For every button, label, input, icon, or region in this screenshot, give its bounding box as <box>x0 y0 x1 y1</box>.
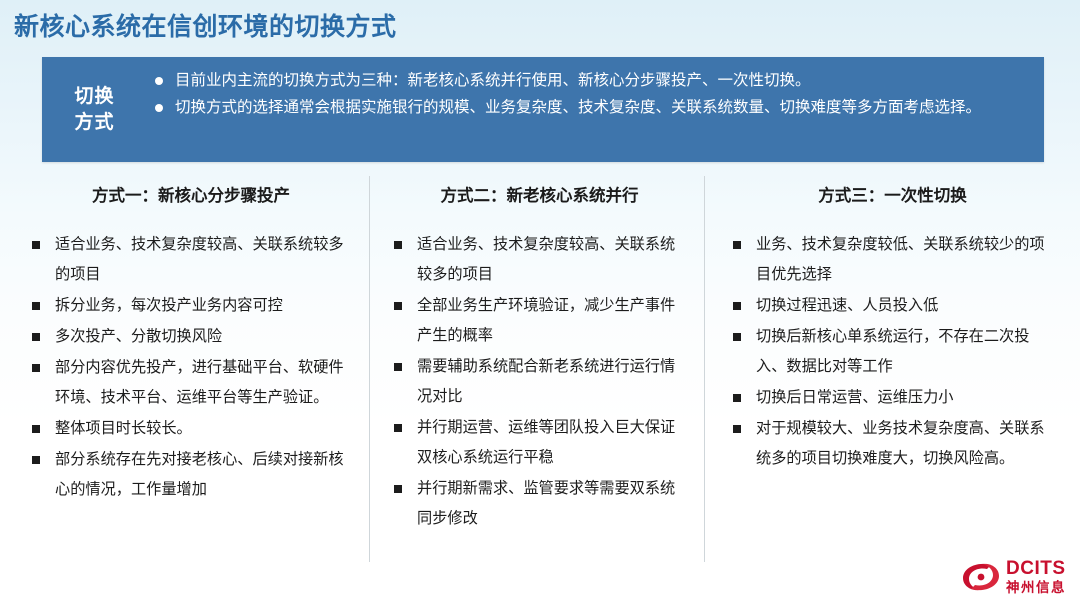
list-item-text: 切换后日常运营、运维压力小 <box>756 389 953 406</box>
bullet-square-icon <box>32 456 40 464</box>
list-item-text: 整体项目时长较长。 <box>55 420 192 437</box>
list-item-text: 切换后新核心单系统运行，不存在二次投入、数据比对等工作 <box>756 328 1029 375</box>
list-item-text: 业务、技术复杂度较低、关联系统较少的项目优先选择 <box>756 236 1045 283</box>
list-item-text: 适合业务、技术复杂度较高、关联系统较多的项目 <box>55 236 344 283</box>
list-item-text: 适合业务、技术复杂度较高、关联系统较多的项目 <box>417 236 675 283</box>
list-item-text: 并行期运营、运维等团队投入巨大保证双核心系统运行平稳 <box>417 419 675 466</box>
column-heading: 方式三：一次性切换 <box>729 176 1056 214</box>
logo-text-block: DCITS 神州信息 <box>1006 559 1066 595</box>
intro-label-line-2: 方式 <box>74 110 114 136</box>
intro-bullet-list: 目前业内主流的切换方式为三种：新老核心系统并行使用、新核心分步骤投产、一次性切换… <box>147 57 1044 162</box>
logo-name-en: DCITS <box>1006 559 1066 578</box>
logo-name-cn: 神州信息 <box>1006 581 1066 595</box>
list-item: 部分内容优先投产，进行基础平台、软硬件环境、技术平台、运维平台等生产验证。 <box>28 353 354 413</box>
list-item: 多次投产、分散切换风险 <box>28 322 354 352</box>
comparison-columns: 方式一：新核心分步骤投产 适合业务、技术复杂度较高、关联系统较多的项目 拆分业务… <box>14 176 1066 566</box>
list-item: 整体项目时长较长。 <box>28 414 354 444</box>
bullet-square-icon <box>733 333 741 341</box>
list-item-text: 需要辅助系统配合新老系统进行运行情况对比 <box>417 358 675 405</box>
bullet-square-icon <box>394 485 402 493</box>
list-item-text: 多次投产、分散切换风险 <box>55 328 222 345</box>
list-item-text: 全部业务生产环境验证，减少生产事件产生的概率 <box>417 297 675 344</box>
bullet-square-icon <box>394 424 402 432</box>
intro-label-line-1: 切换 <box>74 84 114 110</box>
bullet-square-icon <box>394 241 402 249</box>
list-item: 全部业务生产环境验证，减少生产事件产生的概率 <box>390 291 689 351</box>
list-item: 切换后日常运营、运维压力小 <box>729 383 1056 413</box>
bullet-square-icon <box>733 425 741 433</box>
list-item: 切换过程迅速、人员投入低 <box>729 291 1056 321</box>
intro-bullet-text: 目前业内主流的切换方式为三种：新老核心系统并行使用、新核心分步骤投产、一次性切换… <box>175 72 811 89</box>
bullet-square-icon <box>32 425 40 433</box>
intro-panel-label: 切换 方式 <box>42 57 147 162</box>
page-title: 新核心系统在信创环境的切换方式 <box>14 10 397 44</box>
list-item: 对于规模较大、业务技术复杂度高、关联系统多的项目切换难度大，切换风险高。 <box>729 414 1056 474</box>
intro-panel: 切换 方式 目前业内主流的切换方式为三种：新老核心系统并行使用、新核心分步骤投产… <box>42 57 1044 162</box>
slide-canvas: 新核心系统在信创环境的切换方式 切换 方式 目前业内主流的切换方式为三种：新老核… <box>0 0 1080 608</box>
bullet-dot-icon <box>155 77 163 85</box>
column-heading: 方式一：新核心分步骤投产 <box>28 176 354 214</box>
list-item-text: 并行期新需求、监管要求等需要双系统同步修改 <box>417 480 675 527</box>
list-item: 并行期新需求、监管要求等需要双系统同步修改 <box>390 474 689 534</box>
intro-bullet-item: 切换方式的选择通常会根据实施银行的规模、业务复杂度、技术复杂度、关联系统数量、切… <box>153 95 1026 121</box>
bullet-square-icon <box>733 241 741 249</box>
bullet-square-icon <box>32 333 40 341</box>
bullet-square-icon <box>394 302 402 310</box>
list-item: 部分系统存在先对接老核心、后续对接新核心的情况，工作量增加 <box>28 445 354 505</box>
intro-bullet-text: 切换方式的选择通常会根据实施银行的规模、业务复杂度、技术复杂度、关联系统数量、切… <box>175 99 981 116</box>
column-bullet-list: 适合业务、技术复杂度较高、关联系统较多的项目 全部业务生产环境验证，减少生产事件… <box>390 214 689 534</box>
column-heading: 方式二：新老核心系统并行 <box>390 176 689 214</box>
bullet-square-icon <box>733 302 741 310</box>
company-logo: DCITS 神州信息 <box>961 556 1066 598</box>
bullet-square-icon <box>32 241 40 249</box>
dcits-swirl-icon <box>961 559 1001 595</box>
column-method-three: 方式三：一次性切换 业务、技术复杂度较低、关联系统较少的项目优先选择 切换过程迅… <box>705 176 1066 566</box>
column-bullet-list: 适合业务、技术复杂度较高、关联系统较多的项目 拆分业务，每次投产业务内容可控 多… <box>28 214 354 505</box>
list-item: 业务、技术复杂度较低、关联系统较少的项目优先选择 <box>729 230 1056 290</box>
bullet-dot-icon <box>155 104 163 112</box>
column-method-one: 方式一：新核心分步骤投产 适合业务、技术复杂度较高、关联系统较多的项目 拆分业务… <box>14 176 370 566</box>
list-item: 需要辅助系统配合新老系统进行运行情况对比 <box>390 352 689 412</box>
list-item-text: 对于规模较大、业务技术复杂度高、关联系统多的项目切换难度大，切换风险高。 <box>756 420 1045 467</box>
list-item-text: 拆分业务，每次投产业务内容可控 <box>55 297 283 314</box>
column-method-two: 方式二：新老核心系统并行 适合业务、技术复杂度较高、关联系统较多的项目 全部业务… <box>370 176 705 566</box>
intro-bullet-item: 目前业内主流的切换方式为三种：新老核心系统并行使用、新核心分步骤投产、一次性切换… <box>153 68 1026 94</box>
column-bullet-list: 业务、技术复杂度较低、关联系统较少的项目优先选择 切换过程迅速、人员投入低 切换… <box>729 214 1056 474</box>
list-item-text: 部分内容优先投产，进行基础平台、软硬件环境、技术平台、运维平台等生产验证。 <box>55 359 344 406</box>
bullet-square-icon <box>32 364 40 372</box>
list-item: 并行期运营、运维等团队投入巨大保证双核心系统运行平稳 <box>390 413 689 473</box>
bullet-square-icon <box>733 394 741 402</box>
bullet-square-icon <box>32 302 40 310</box>
list-item: 适合业务、技术复杂度较高、关联系统较多的项目 <box>390 230 689 290</box>
list-item-text: 部分系统存在先对接老核心、后续对接新核心的情况，工作量增加 <box>55 451 344 498</box>
bullet-square-icon <box>394 363 402 371</box>
list-item: 切换后新核心单系统运行，不存在二次投入、数据比对等工作 <box>729 322 1056 382</box>
list-item: 拆分业务，每次投产业务内容可控 <box>28 291 354 321</box>
list-item: 适合业务、技术复杂度较高、关联系统较多的项目 <box>28 230 354 290</box>
list-item-text: 切换过程迅速、人员投入低 <box>756 297 938 314</box>
